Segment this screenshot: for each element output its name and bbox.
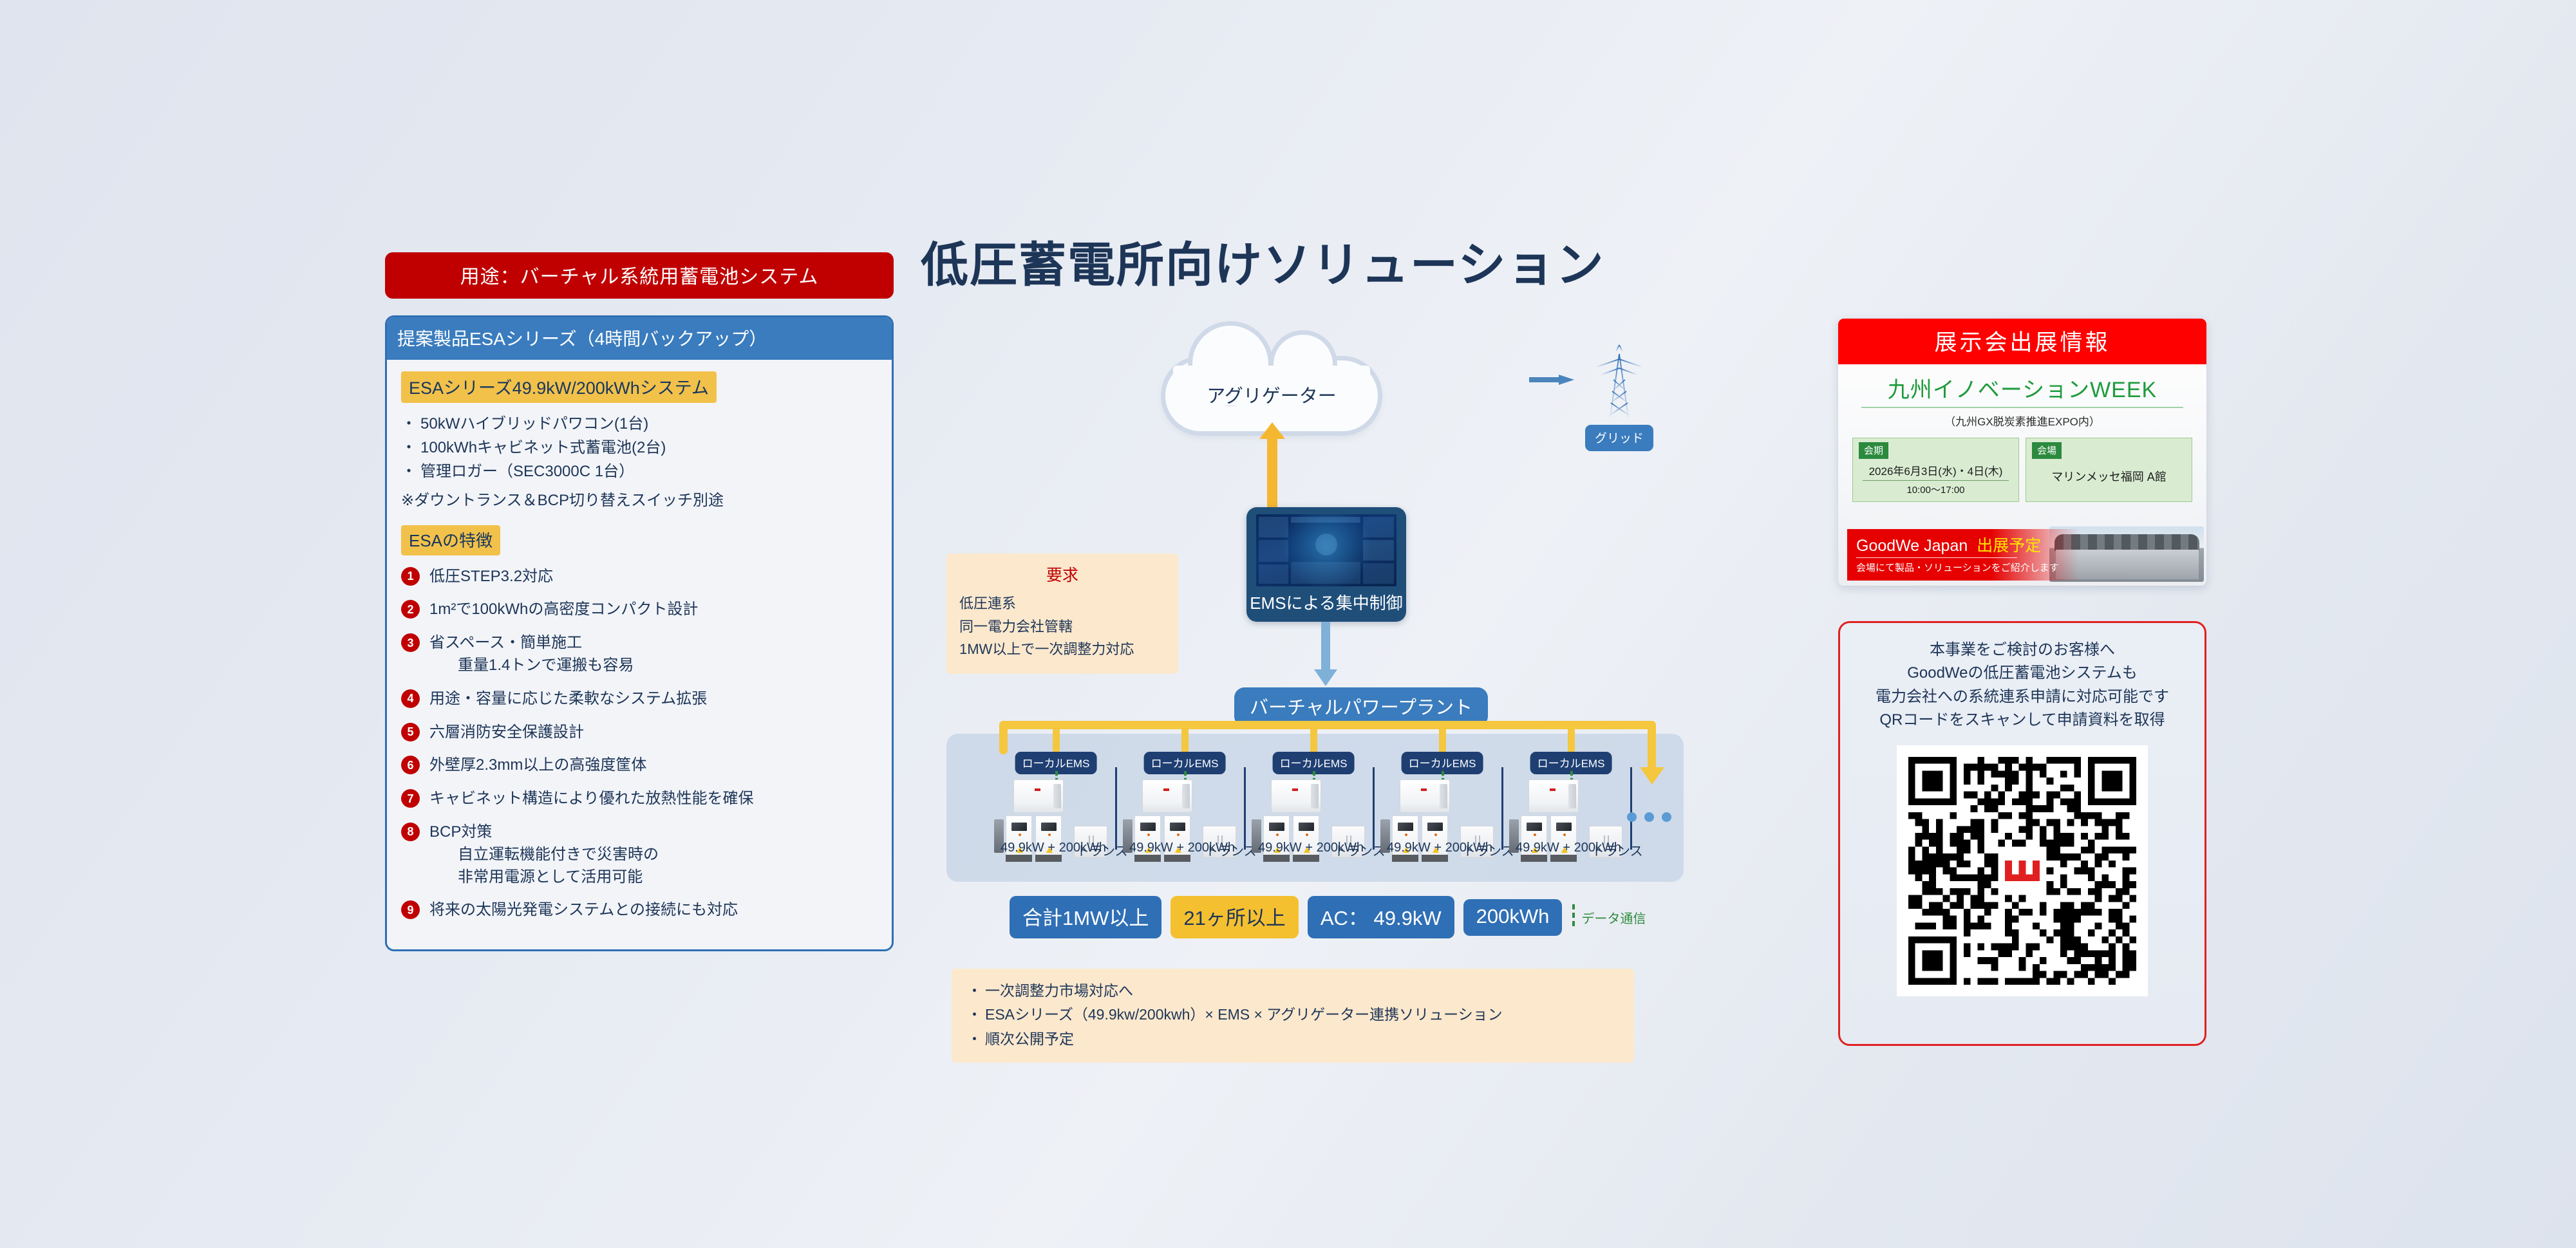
feature-item: 3省スペース・簡単施工重量1.4トンで運搬も容易 <box>401 632 878 677</box>
left-product-column: 用途：バーチャル系統用蓄電池システム 提案製品ESAシリーズ（4時間バックアップ… <box>385 252 894 951</box>
bus-arrow-icon <box>1640 767 1664 785</box>
arrow-right-icon <box>1529 375 1574 385</box>
cabinet-display <box>1170 823 1185 831</box>
inverter-vent <box>1311 784 1319 808</box>
feature-number-badge: 7 <box>401 789 420 808</box>
requirements-lines: 低圧連系同一電力会社管轄1MW以上で一次調整力対応 <box>959 592 1165 661</box>
feature-item: 5六層消防安全保護設計 <box>401 722 878 744</box>
cabinet-led <box>1048 834 1051 836</box>
feature-text: 外壁厚2.3mm以上の高強度筐体 <box>429 756 646 774</box>
list-item: 管理ロガー（SEC3000C 1台） <box>401 460 878 483</box>
expo-info-card: 展示会出展情報 九州イノベーションWEEK （九州GX脱炭素推進EXPO内） 会… <box>1838 319 2206 586</box>
feature-number-badge: 5 <box>401 723 420 741</box>
cabinet-base <box>1164 855 1190 862</box>
feature-text: BCP対策 <box>429 823 492 841</box>
feature-text: 用途・容量に応じた柔軟なシステム拡張 <box>429 690 707 707</box>
cabinet-display <box>1398 823 1413 831</box>
bus-drop-line <box>1053 729 1060 754</box>
cabinet-display <box>1527 823 1542 831</box>
expo-time-value: 10:00～17:00 <box>1859 483 2013 496</box>
inverter-vent <box>1440 784 1447 808</box>
cabinet-display <box>1011 823 1027 831</box>
requirements-box: 要求 低圧連系同一電力会社管轄1MW以上で一次調整力対応 <box>946 554 1178 674</box>
ems-label: EMSによる集中制御 <box>1250 590 1403 614</box>
qr-cta-card: 本事業をご検討のお客様へGoodWeの低圧蓄電池システムも電力会社への系統連系申… <box>1838 621 2206 1046</box>
cabinet-led <box>1434 834 1437 836</box>
site-divider <box>1501 767 1503 850</box>
bottom-note-list: 一次調整力市場対応へESAシリーズ（49.9kw/200kwh）× EMS × … <box>968 979 1617 1051</box>
cabinet-base <box>1422 855 1448 862</box>
feature-text: 省スペース・簡単施工 <box>429 634 582 651</box>
page-title: 低圧蓄電所向けソリューション <box>921 227 1605 295</box>
qr-description: 本事業をご検討のお客様へGoodWeの低圧蓄電池システムも電力会社への系統連系申… <box>1840 638 2205 732</box>
expo-name: 九州イノベーションWEEK <box>1838 372 2206 404</box>
expo-footer: GoodWe Japan出展予定 会場にて製品・ソリューションをご紹介します <box>1838 525 2206 586</box>
inverter-vent <box>1182 784 1190 808</box>
divider <box>1863 480 2009 481</box>
bottom-note-box: 一次調整力市場対応へESAシリーズ（49.9kw/200kwh）× EMS × … <box>952 969 1634 1063</box>
cabinet-led <box>1276 834 1279 836</box>
inverter-vent <box>1053 784 1061 808</box>
summary-badge-row: 合計1MW以上21ヶ所以上AC： 49.9kW200kWhデータ通信 <box>1010 896 1646 938</box>
cabinet-led <box>1405 834 1407 836</box>
feature-number-badge: 3 <box>401 633 420 652</box>
component-note: ※ダウントランス＆BCP切り替えスイッチ別途 <box>401 489 878 512</box>
ems-dashboard-screenshot <box>1256 514 1396 586</box>
system-highlight: ESAシリーズ49.9kW/200kWhシステム <box>401 371 717 403</box>
hybrid-inverter <box>1400 779 1450 813</box>
cabinet-display <box>1041 823 1057 831</box>
data-comm-legend: データ通信 <box>1571 908 1646 927</box>
inverter-led <box>1163 788 1169 791</box>
cabinet-base <box>1293 855 1319 862</box>
cabinet-base <box>1263 855 1290 862</box>
feature-subtext: 自立運転機能付きで災害時の <box>429 844 878 866</box>
feature-number-badge: 6 <box>401 756 420 774</box>
feature-subtext: 非常用電源として活用可能 <box>429 866 878 889</box>
expo-header: 展示会出展情報 <box>1838 319 2206 364</box>
requirement-line: 1MW以上で一次調整力対応 <box>959 638 1165 661</box>
feature-list: 1低圧STEP3.2対応21m²で100kWhの高密度コンパクト設計3省スペース… <box>401 566 878 922</box>
expo-detail-grid: 会期 2026年6月3日(水)・4日(木) 10:00～17:00 会場 マリン… <box>1852 438 2192 502</box>
expo-date-value: 2026年6月3日(水)・4日(木) <box>1859 462 2013 478</box>
vpp-system-diagram: アグリゲーター グリッド <box>946 335 1719 1056</box>
list-item: 一次調整力市場対応へ <box>968 979 1617 1003</box>
cabinet-display <box>1140 823 1156 831</box>
inverter-vent <box>1568 784 1576 808</box>
feature-text: 低圧STEP3.2対応 <box>429 568 553 585</box>
cabinet-led <box>1563 834 1566 836</box>
site-divider <box>1244 767 1246 850</box>
cabinet-display <box>1427 823 1443 831</box>
cabinet-base <box>1392 855 1418 862</box>
cabinet-base <box>1006 855 1032 862</box>
proposal-card-header: 提案製品ESAシリーズ（4時間バックアップ） <box>387 317 892 360</box>
use-case-badge: 用途：バーチャル系統用蓄電池システム <box>385 252 894 299</box>
expo-date-cell: 会期 2026年6月3日(水)・4日(木) 10:00～17:00 <box>1852 438 2019 502</box>
divider <box>1856 557 2017 558</box>
hybrid-inverter <box>1013 779 1064 813</box>
feature-number-badge: 1 <box>401 567 420 586</box>
cabinet-led <box>1177 834 1180 836</box>
distribution-bus <box>999 721 1656 729</box>
requirements-title: 要求 <box>959 563 1165 586</box>
inverter-led <box>1292 788 1298 791</box>
inverter-led <box>1550 788 1556 791</box>
inverter-led <box>1421 788 1427 791</box>
qr-text-line: 本事業をご検討のお客様へ <box>1840 638 2205 662</box>
site-divider <box>1630 767 1632 850</box>
expo-venue-tag: 会場 <box>2032 442 2062 459</box>
arrow-up-icon <box>1267 438 1277 508</box>
feature-number-badge: 2 <box>401 600 420 619</box>
qr-code[interactable] <box>1897 745 2148 996</box>
cabinet-led <box>1534 834 1536 836</box>
arrow-down-icon <box>1321 622 1330 671</box>
list-item: 50kWハイブリッドパワコン(1台) <box>401 412 878 436</box>
expo-venue-cell: 会場 マリンメッセ福岡 A館 <box>2026 438 2192 502</box>
requirement-line: 低圧連系 <box>959 592 1165 615</box>
cabinet-base <box>1035 855 1062 862</box>
feature-item: 8BCP対策自立運転機能付きで災害時の非常用電源として活用可能 <box>401 821 878 888</box>
transmission-tower-icon <box>1590 341 1648 418</box>
summary-badge: 21ヶ所以上 <box>1170 896 1298 938</box>
qr-text-line: QRコードをスキャンして申請資料を取得 <box>1840 709 2205 732</box>
list-item: ESAシリーズ（49.9kw/200kwh）× EMS × アグリゲーター連携ソ… <box>968 1003 1617 1027</box>
ems-monitor: EMSによる集中制御 <box>1246 507 1406 622</box>
summary-badge: AC： 49.9kW <box>1308 896 1454 938</box>
aggregator-label: アグリゲーター <box>1165 381 1378 408</box>
hybrid-inverter <box>1528 779 1579 813</box>
cabinet-display <box>1299 823 1314 831</box>
feature-number-badge: 9 <box>401 900 420 919</box>
cabinet-led <box>1147 834 1150 836</box>
feature-item: 7キャビネット構造により優れた放熱性能を確保 <box>401 788 878 810</box>
hybrid-inverter <box>1142 779 1192 813</box>
feature-text: 1m²で100kWhの高密度コンパクト設計 <box>429 601 698 618</box>
expo-footer-banner: GoodWe Japan出展予定 会場にて製品・ソリューションをご紹介します <box>1847 529 2079 581</box>
summary-badge: 合計1MW以上 <box>1010 896 1161 938</box>
list-item: 順次公開予定 <box>968 1027 1617 1051</box>
cabinet-base <box>1521 855 1547 862</box>
expo-date-tag: 会期 <box>1859 442 1888 459</box>
divider <box>1861 407 2183 408</box>
expo-brand: GoodWe Japan <box>1856 537 1968 555</box>
feature-number-badge: 4 <box>401 689 420 708</box>
features-highlight: ESAの特徴 <box>401 525 500 555</box>
qr-text-line: GoodWeの低圧蓄電池システムも <box>1840 662 2205 685</box>
feature-number-badge: 8 <box>401 823 420 841</box>
transformer-label: トランス <box>1592 841 1643 859</box>
slide-canvas: 用途：バーチャル系統用蓄電池システム 提案製品ESAシリーズ（4時間バックアップ… <box>0 0 2576 1248</box>
cabinet-display <box>1269 823 1284 831</box>
expo-status: 出展予定 <box>1977 537 2041 555</box>
component-list: 50kWハイブリッドパワコン(1台)100kWhキャビネット式蓄電池(2台)管理… <box>401 412 878 484</box>
expo-brand-line: GoodWe Japan出展予定 <box>1856 533 2070 556</box>
cabinet-led <box>1019 834 1021 836</box>
bus-drop-line <box>1568 729 1575 754</box>
qr-text-line: 電力会社への系統連系申請に対応可能です <box>1840 685 2205 709</box>
expo-venue-value: マリンメッセ福岡 A館 <box>2032 468 2186 485</box>
cabinet-display <box>1556 823 1572 831</box>
feature-item: 1低圧STEP3.2対応 <box>401 566 878 588</box>
more-sites-ellipsis <box>1627 812 1679 825</box>
inverter-led <box>1035 788 1040 791</box>
qr-code-image <box>1908 757 2136 985</box>
list-item: 100kWhキャビネット式蓄電池(2台) <box>401 436 878 460</box>
expo-subtitle: （九州GX脱炭素推進EXPO内） <box>1838 413 2206 429</box>
cabinet-base <box>1134 855 1161 862</box>
grid-badge: グリッド <box>1585 425 1653 451</box>
hybrid-inverter <box>1271 779 1321 813</box>
feature-text: キャビネット構造により優れた放熱性能を確保 <box>429 790 754 807</box>
feature-subtext: 重量1.4トンで運搬も容易 <box>429 655 878 677</box>
feature-item: 21m²で100kWhの高密度コンパクト設計 <box>401 599 878 621</box>
proposal-card: 提案製品ESAシリーズ（4時間バックアップ） ESAシリーズ49.9kW/200… <box>385 315 894 951</box>
site-divider <box>1115 767 1117 850</box>
expo-footer-note: 会場にて製品・ソリューションをご紹介します <box>1856 561 2070 574</box>
cabinet-base <box>1550 855 1577 862</box>
bus-drop-line <box>1439 729 1446 754</box>
bus-drop-line <box>1181 729 1189 754</box>
site-divider <box>1373 767 1375 850</box>
feature-item: 4用途・容量に応じた柔軟なシステム拡張 <box>401 688 878 711</box>
bus-drop-line <box>1310 729 1317 754</box>
feature-text: 将来の太陽光発電システムとの接続にも対応 <box>429 901 738 918</box>
proposal-card-body: ESAシリーズ49.9kW/200kWhシステム 50kWハイブリッドパワコン(… <box>387 360 892 949</box>
cabinet-led <box>1306 834 1308 836</box>
feature-text: 六層消防安全保護設計 <box>429 723 584 741</box>
feature-item: 6外壁厚2.3mm以上の高強度筐体 <box>401 754 878 777</box>
feature-item: 9将来の太陽光発電システムとの接続にも対応 <box>401 899 878 922</box>
requirement-line: 同一電力会社管轄 <box>959 615 1165 638</box>
summary-badge: 200kWh <box>1463 899 1563 936</box>
